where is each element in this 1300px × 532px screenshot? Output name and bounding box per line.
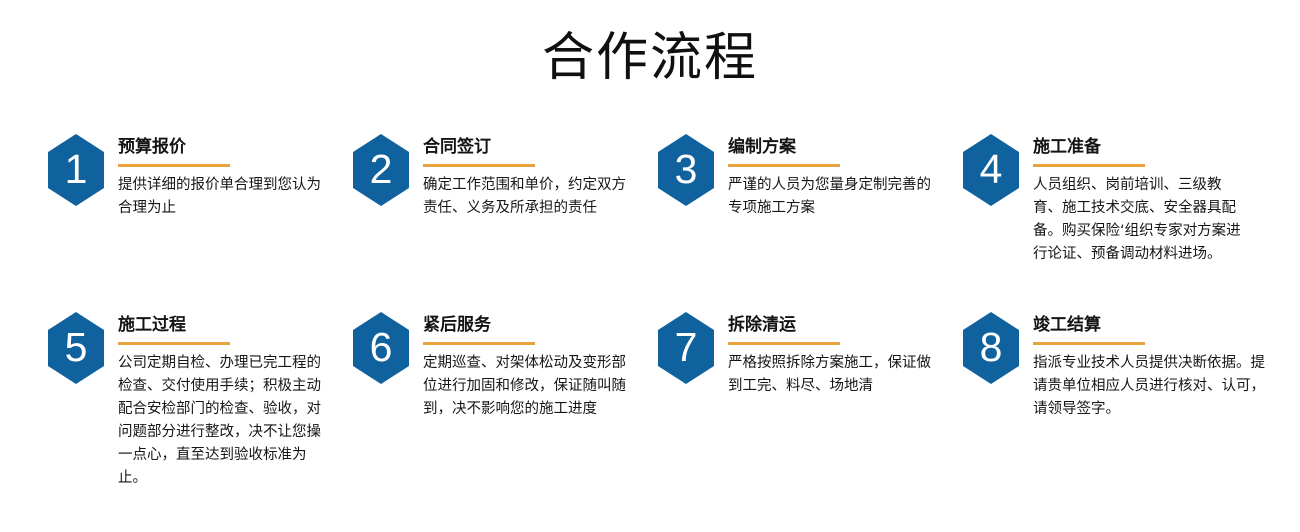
step-description-2: 确定工作范围和单价，约定双方责任、义务及所承担的责任 [423,174,631,220]
step-rule-1 [118,164,230,167]
step-number-5: 5 [65,327,88,368]
step-item-1: 1 预算报价 提供详细的报价单合理到您认为合理为止 [48,132,353,266]
step-title-3: 编制方案 [728,136,963,158]
step-number-4: 4 [980,149,1003,190]
step-rule-5 [118,342,230,345]
step-body-3: 编制方案 严谨的人员为您量身定制完善的专项施工方案 [728,132,963,220]
step-rule-7 [728,342,840,345]
step-description-1: 提供详细的报价单合理到您认为合理为止 [118,174,326,220]
step-item-6: 6 紧后服务 定期巡查、对架体松动及变形部位进行加固和修改，保证随叫随到，决不影… [353,310,658,490]
step-description-8: 指派专业技术人员提供决断依据。提请贵单位相应人员进行核对、认可，请领导签字。 [1033,352,1269,421]
step-number-1: 1 [65,149,88,190]
hexagon-badge-1: 1 [48,134,104,206]
step-item-4: 4 施工准备 人员组织、岗前培训、三级教育、施工技术交底、安全器具配备。购买保险… [963,132,1268,266]
step-rule-3 [728,164,840,167]
step-item-5: 5 施工过程 公司定期自检、办理已完工程的检查、交付使用手续；积极主动配合安检部… [48,310,353,490]
step-body-7: 拆除清运 严格按照拆除方案施工，保证做到工完、料尽、场地清 [728,310,963,398]
step-title-6: 紧后服务 [423,314,658,336]
step-title-5: 施工过程 [118,314,353,336]
hexagon-badge-3: 3 [658,134,714,206]
step-description-5: 公司定期自检、办理已完工程的检查、交付使用手续；积极主动配合安检部门的检查、验收… [118,352,326,490]
hexagon-badge-2: 2 [353,134,409,206]
step-title-2: 合同签订 [423,136,658,158]
steps-grid: 1 预算报价 提供详细的报价单合理到您认为合理为止 2 合同签订 确定工作范围和… [48,132,1278,490]
step-description-4: 人员组织、岗前培训、三级教育、施工技术交底、安全器具配备。购买保险‘组织专家对方… [1033,174,1245,266]
step-rule-2 [423,164,535,167]
hexagon-badge-5: 5 [48,312,104,384]
step-description-7: 严格按照拆除方案施工，保证做到工完、料尽、场地清 [728,352,936,398]
step-title-7: 拆除清运 [728,314,963,336]
step-item-3: 3 编制方案 严谨的人员为您量身定制完善的专项施工方案 [658,132,963,266]
step-description-6: 定期巡查、对架体松动及变形部位进行加固和修改，保证随叫随到，决不影响您的施工进度 [423,352,631,421]
hexagon-badge-7: 7 [658,312,714,384]
step-title-4: 施工准备 [1033,136,1268,158]
hexagon-badge-4: 4 [963,134,1019,206]
step-rule-6 [423,342,535,345]
step-number-2: 2 [370,149,393,190]
step-item-7: 7 拆除清运 严格按照拆除方案施工，保证做到工完、料尽、场地清 [658,310,963,490]
step-body-1: 预算报价 提供详细的报价单合理到您认为合理为止 [118,132,353,220]
page-title: 合作流程 [0,24,1300,92]
step-body-5: 施工过程 公司定期自检、办理已完工程的检查、交付使用手续；积极主动配合安检部门的… [118,310,353,490]
hexagon-badge-6: 6 [353,312,409,384]
step-body-6: 紧后服务 定期巡查、对架体松动及变形部位进行加固和修改，保证随叫随到，决不影响您… [423,310,658,421]
step-description-3: 严谨的人员为您量身定制完善的专项施工方案 [728,174,936,220]
cooperation-process-infographic: 合作流程 1 预算报价 提供详细的报价单合理到您认为合理为止 2 合同签订 确定… [0,0,1300,532]
hexagon-badge-8: 8 [963,312,1019,384]
step-number-6: 6 [370,327,393,368]
step-title-1: 预算报价 [118,136,353,158]
step-number-8: 8 [980,327,1003,368]
step-rule-4 [1033,164,1145,167]
step-number-7: 7 [675,327,698,368]
step-body-2: 合同签订 确定工作范围和单价，约定双方责任、义务及所承担的责任 [423,132,658,220]
step-body-8: 竣工结算 指派专业技术人员提供决断依据。提请贵单位相应人员进行核对、认可，请领导… [1033,310,1268,421]
step-item-2: 2 合同签订 确定工作范围和单价，约定双方责任、义务及所承担的责任 [353,132,658,266]
step-number-3: 3 [675,149,698,190]
step-item-8: 8 竣工结算 指派专业技术人员提供决断依据。提请贵单位相应人员进行核对、认可，请… [963,310,1268,490]
step-rule-8 [1033,342,1145,345]
step-title-8: 竣工结算 [1033,314,1268,336]
step-body-4: 施工准备 人员组织、岗前培训、三级教育、施工技术交底、安全器具配备。购买保险‘组… [1033,132,1268,266]
